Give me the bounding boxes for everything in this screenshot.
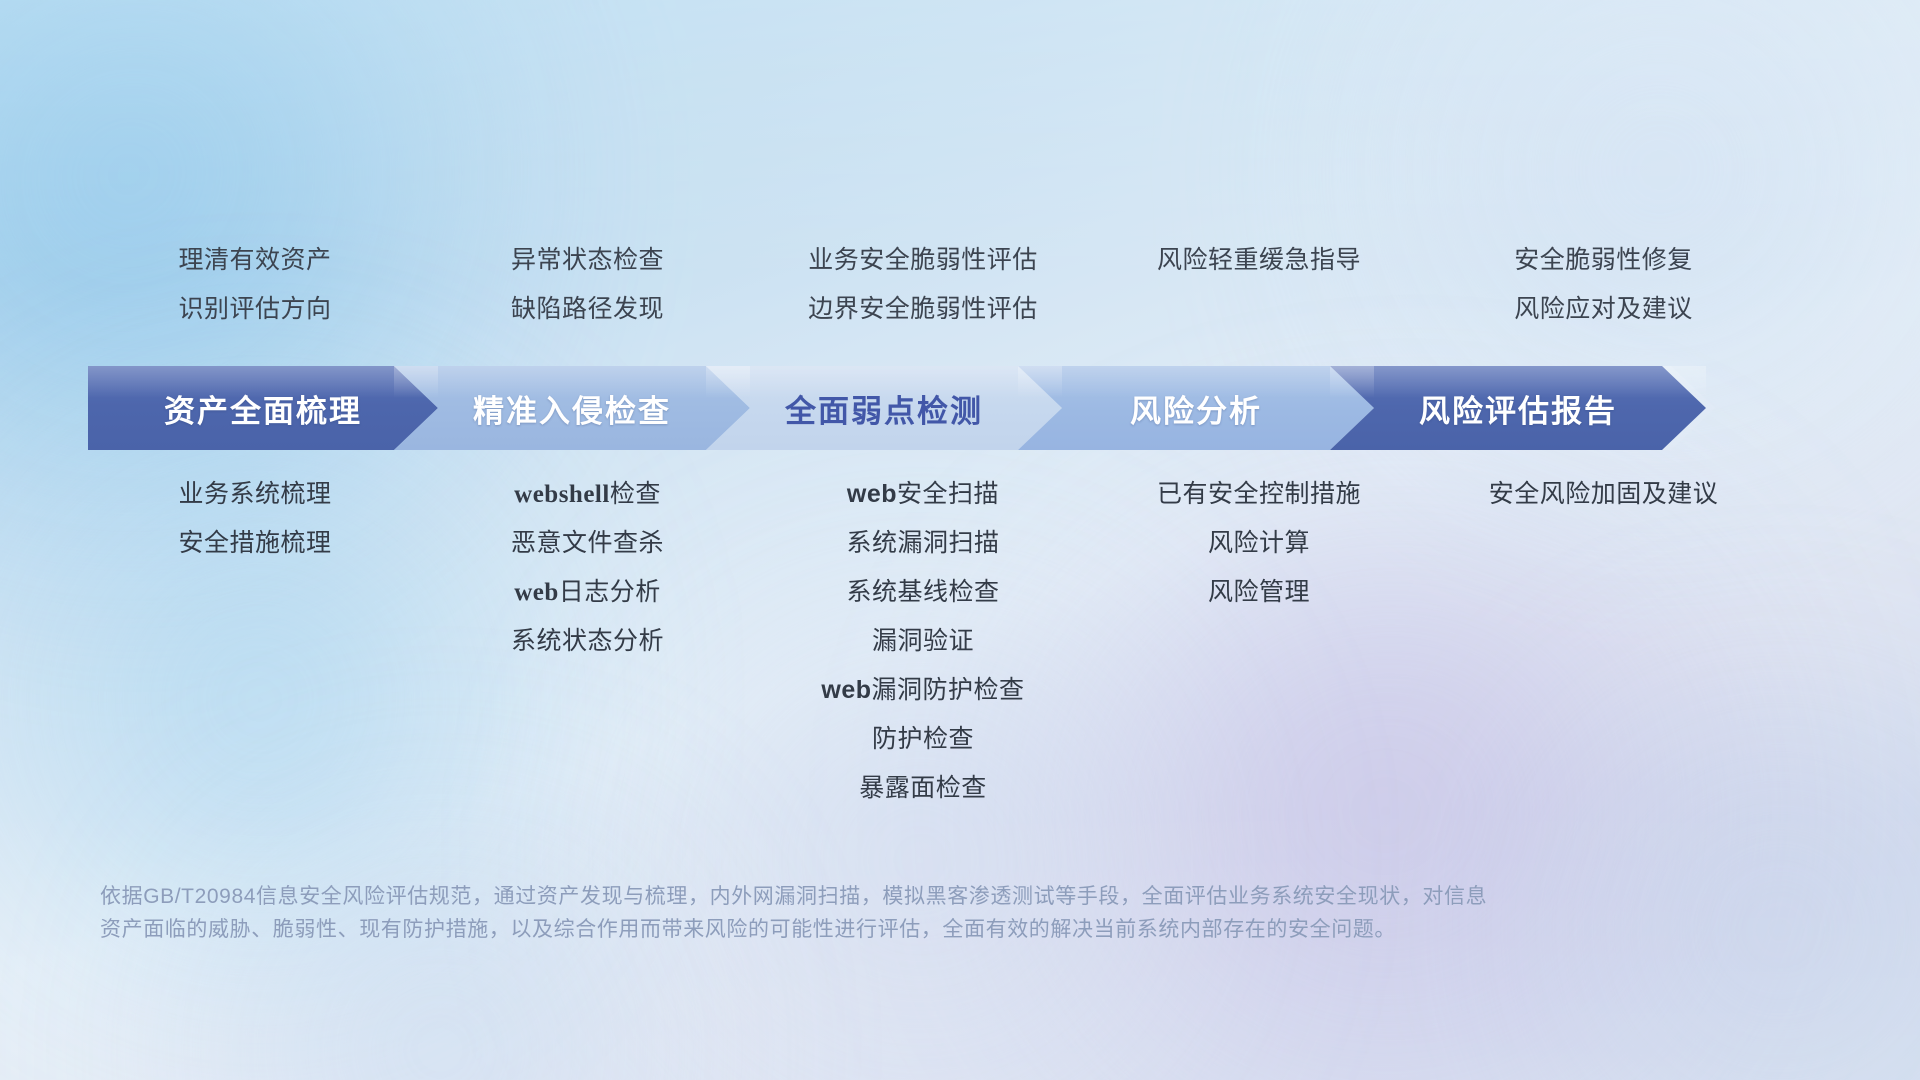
stage-item-prefix: web <box>847 480 897 508</box>
items-risk-analysis: 已有安全控制措施风险计算风险管理 <box>1091 470 1427 813</box>
stage-item: 安全风险加固及建议 <box>1427 470 1780 519</box>
top-note: 识别评估方向 <box>90 285 420 334</box>
top-notes-assessment-report: 安全脆弱性修复 风险应对及建议 <box>1427 236 1780 334</box>
stage-item-text: 安全扫描 <box>897 480 999 508</box>
top-note: 边界安全脆弱性评估 <box>755 285 1091 334</box>
chevron-stage-weakness-detection[interactable]: 全面弱点检测 <box>706 366 1062 450</box>
chevron-label: 全面弱点检测 <box>785 386 983 431</box>
stage-item-prefix: webshell <box>514 481 610 508</box>
footer-line-2: 资产面临的威胁、脆弱性、现有防护措施，以及综合作用而带来风险的可能性进行评估，全… <box>100 913 1620 946</box>
stage-item: webshell检查 <box>420 470 755 519</box>
chevron-stage-risk-analysis[interactable]: 风险分析 <box>1018 366 1374 450</box>
stage-item: 风险管理 <box>1091 568 1427 617</box>
chevron-label: 资产全面梳理 <box>164 386 362 431</box>
stage-item-text: 安全措施梳理 <box>178 529 331 557</box>
stage-item: web漏洞防护检查 <box>755 666 1091 715</box>
stage-item: 系统漏洞扫描 <box>755 519 1091 568</box>
top-note: 缺陷路径发现 <box>420 285 755 334</box>
stage-item-text: 系统状态分析 <box>511 627 664 655</box>
top-note: 风险应对及建议 <box>1427 285 1780 334</box>
top-note: 异常状态检查 <box>420 236 755 285</box>
stage-item-text: 暴露面检查 <box>859 774 987 802</box>
stage-item-text: 漏洞验证 <box>872 627 974 655</box>
stage-item: 防护检查 <box>755 715 1091 764</box>
stage-item: 业务系统梳理 <box>90 470 420 519</box>
stage-item-text: 系统基线检查 <box>846 578 999 606</box>
top-notes-row: 理清有效资产 识别评估方向 异常状态检查 缺陷路径发现 业务安全脆弱性评估 边界… <box>90 236 1850 334</box>
stage-items-row: 业务系统梳理安全措施梳理 webshell检查恶意文件查杀web日志分析系统状态… <box>90 470 1850 813</box>
footer-line-1: 依据GB/T20984信息安全风险评估规范，通过资产发现与梳理，内外网漏洞扫描，… <box>100 880 1620 913</box>
top-note: 业务安全脆弱性评估 <box>755 236 1091 285</box>
stage-item: 恶意文件查杀 <box>420 519 755 568</box>
footer-description: 依据GB/T20984信息安全风险评估规范，通过资产发现与梳理，内外网漏洞扫描，… <box>100 880 1620 946</box>
stage-item: web安全扫描 <box>755 470 1091 519</box>
top-note: 理清有效资产 <box>90 236 420 285</box>
stage-item-prefix: web <box>514 579 559 606</box>
stage-item-text: 业务系统梳理 <box>178 480 331 508</box>
top-notes-intrusion-check: 异常状态检查 缺陷路径发现 <box>420 236 755 334</box>
chevron-label: 风险评估报告 <box>1419 386 1617 431</box>
chevron-label: 精准入侵检查 <box>473 386 671 431</box>
stage-item: 漏洞验证 <box>755 617 1091 666</box>
stage-item: 系统基线检查 <box>755 568 1091 617</box>
chevron-band: 资产全面梳理 精准入侵检查 全面弱点检测 风险分析 风险评估报告 <box>88 366 1848 450</box>
stage-item-text: 系统漏洞扫描 <box>846 529 999 557</box>
top-note: 安全脆弱性修复 <box>1427 236 1780 285</box>
stage-item-text: 已有安全控制措施 <box>1157 480 1361 508</box>
top-note: 风险轻重缓急指导 <box>1091 236 1427 285</box>
stage-item: 暴露面检查 <box>755 764 1091 813</box>
stage-item-text: 风险计算 <box>1208 529 1310 557</box>
chevron-stage-asset-inventory[interactable]: 资产全面梳理 <box>88 366 438 450</box>
top-notes-asset-inventory: 理清有效资产 识别评估方向 <box>90 236 420 334</box>
stage-item: 风险计算 <box>1091 519 1427 568</box>
chevron-label: 风险分析 <box>1130 386 1262 431</box>
process-flow-diagram: 理清有效资产 识别评估方向 异常状态检查 缺陷路径发现 业务安全脆弱性评估 边界… <box>0 0 1920 1080</box>
chevron-stage-intrusion-check[interactable]: 精准入侵检查 <box>394 366 750 450</box>
stage-item-text: 恶意文件查杀 <box>511 529 664 557</box>
items-assessment-report: 安全风险加固及建议 <box>1427 470 1780 813</box>
stage-item-text: 风险管理 <box>1208 578 1310 606</box>
items-weakness-detection: web安全扫描系统漏洞扫描系统基线检查漏洞验证web漏洞防护检查防护检查暴露面检… <box>755 470 1091 813</box>
top-notes-risk-analysis: 风险轻重缓急指导 <box>1091 236 1427 334</box>
chevron-stage-assessment-report[interactable]: 风险评估报告 <box>1330 366 1706 450</box>
stage-item: web日志分析 <box>420 568 755 617</box>
items-asset-inventory: 业务系统梳理安全措施梳理 <box>90 470 420 813</box>
stage-item-text: 安全风险加固及建议 <box>1489 480 1719 508</box>
stage-item-text: 防护检查 <box>872 725 974 753</box>
stage-item: 已有安全控制措施 <box>1091 470 1427 519</box>
stage-item: 安全措施梳理 <box>90 519 420 568</box>
items-intrusion-check: webshell检查恶意文件查杀web日志分析系统状态分析 <box>420 470 755 813</box>
stage-item-prefix: web <box>821 676 871 704</box>
stage-item: 系统状态分析 <box>420 617 755 666</box>
top-notes-weakness-detection: 业务安全脆弱性评估 边界安全脆弱性评估 <box>755 236 1091 334</box>
stage-item-text: 检查 <box>610 480 661 508</box>
stage-item-text: 日志分析 <box>559 578 661 606</box>
stage-item-text: 漏洞防护检查 <box>872 676 1025 704</box>
